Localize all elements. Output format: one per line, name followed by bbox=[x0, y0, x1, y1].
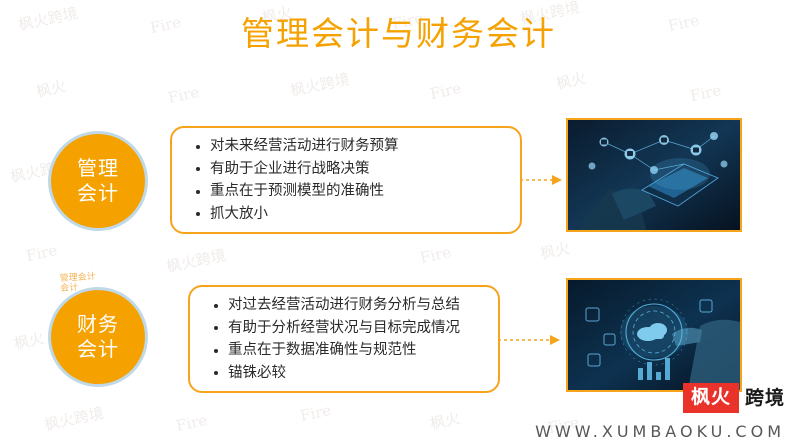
circle-management-accounting: 管理 会计 bbox=[48, 131, 148, 231]
watermark-tile: Fire bbox=[428, 79, 462, 103]
list-item: 抓大放小 bbox=[196, 203, 399, 226]
logo-text: 跨境 bbox=[739, 389, 785, 408]
watermark-tile: 枫火 bbox=[554, 67, 588, 94]
watermark-tile: 枫火跨境 bbox=[288, 68, 351, 101]
list-item: 锚铢必较 bbox=[214, 362, 460, 385]
textbox-financial-accounting: 对过去经营活动进行财务分析与总结 有助于分析经营状况与目标完成情况 重点在于数据… bbox=[188, 285, 500, 393]
watermark-tile: Fire bbox=[688, 81, 722, 105]
list-item: 重点在于数据准确性与规范性 bbox=[214, 339, 460, 362]
brand-logo: 枫火 跨境 bbox=[683, 383, 785, 413]
watermark-tile: Fire bbox=[166, 83, 200, 107]
watermark-tile: Fire bbox=[418, 243, 452, 267]
laptop-data-network-photo bbox=[566, 118, 742, 232]
circle-label: 管理 会计 bbox=[77, 156, 119, 206]
watermark-tile: 枫火 bbox=[428, 407, 462, 434]
watermark-tile: Fire bbox=[174, 411, 208, 435]
dotted-arrow-icon bbox=[520, 172, 564, 192]
circle-label-line2: 会计 bbox=[77, 181, 119, 206]
list-item: 对过去经营活动进行财务分析与总结 bbox=[214, 294, 460, 317]
watermark-tile: 枫火 bbox=[34, 75, 68, 102]
watermark-tile: 枫火 bbox=[538, 237, 572, 264]
watermark-tile: Fire bbox=[298, 401, 332, 425]
circle-label-line2: 会计 bbox=[77, 337, 119, 362]
page-title: 管理会计与财务会计 bbox=[0, 12, 797, 56]
circle-label-line1: 财务 bbox=[77, 312, 119, 337]
circle-financial-accounting: 管理会计 会计 财务 会计 bbox=[48, 287, 148, 387]
bullet-list: 对未来经营活动进行财务预算 有助于企业进行战略决策 重点在于预测模型的准确性 抓… bbox=[196, 135, 399, 225]
slide-canvas: 枫火跨境 Fire 枫火 Fire 枫火跨境 Fire 枫火 Fire 枫火跨境… bbox=[0, 0, 797, 447]
watermark-tile: 枫火跨境 bbox=[164, 244, 227, 277]
bullet-list: 对过去经营活动进行财务分析与总结 有助于分析经营状况与目标完成情况 重点在于数据… bbox=[214, 294, 460, 384]
circle-shape: 管理 会计 bbox=[48, 131, 148, 231]
watermark-tile: Fire bbox=[24, 241, 58, 265]
logo-badge: 枫火 bbox=[683, 383, 739, 413]
list-item: 对未来经营活动进行财务预算 bbox=[196, 135, 399, 158]
cloud-computing-touch-photo bbox=[566, 278, 742, 392]
circle-shape: 财务 会计 bbox=[48, 287, 148, 387]
watermark-tile: 枫火 bbox=[12, 327, 46, 354]
list-item: 有助于分析经营状况与目标完成情况 bbox=[214, 317, 460, 340]
circle-label-line1: 管理 bbox=[77, 156, 119, 181]
list-item: 有助于企业进行战略决策 bbox=[196, 158, 399, 181]
watermark-tile: 枫火跨境 bbox=[42, 402, 105, 435]
circle-label: 财务 会计 bbox=[77, 312, 119, 362]
dotted-arrow-icon bbox=[498, 332, 562, 352]
list-item: 重点在于预测模型的准确性 bbox=[196, 180, 399, 203]
textbox-management-accounting: 对未来经营活动进行财务预算 有助于企业进行战略决策 重点在于预测模型的准确性 抓… bbox=[170, 126, 522, 234]
site-url: WWW.XUMBAOKU.COM bbox=[535, 422, 785, 441]
